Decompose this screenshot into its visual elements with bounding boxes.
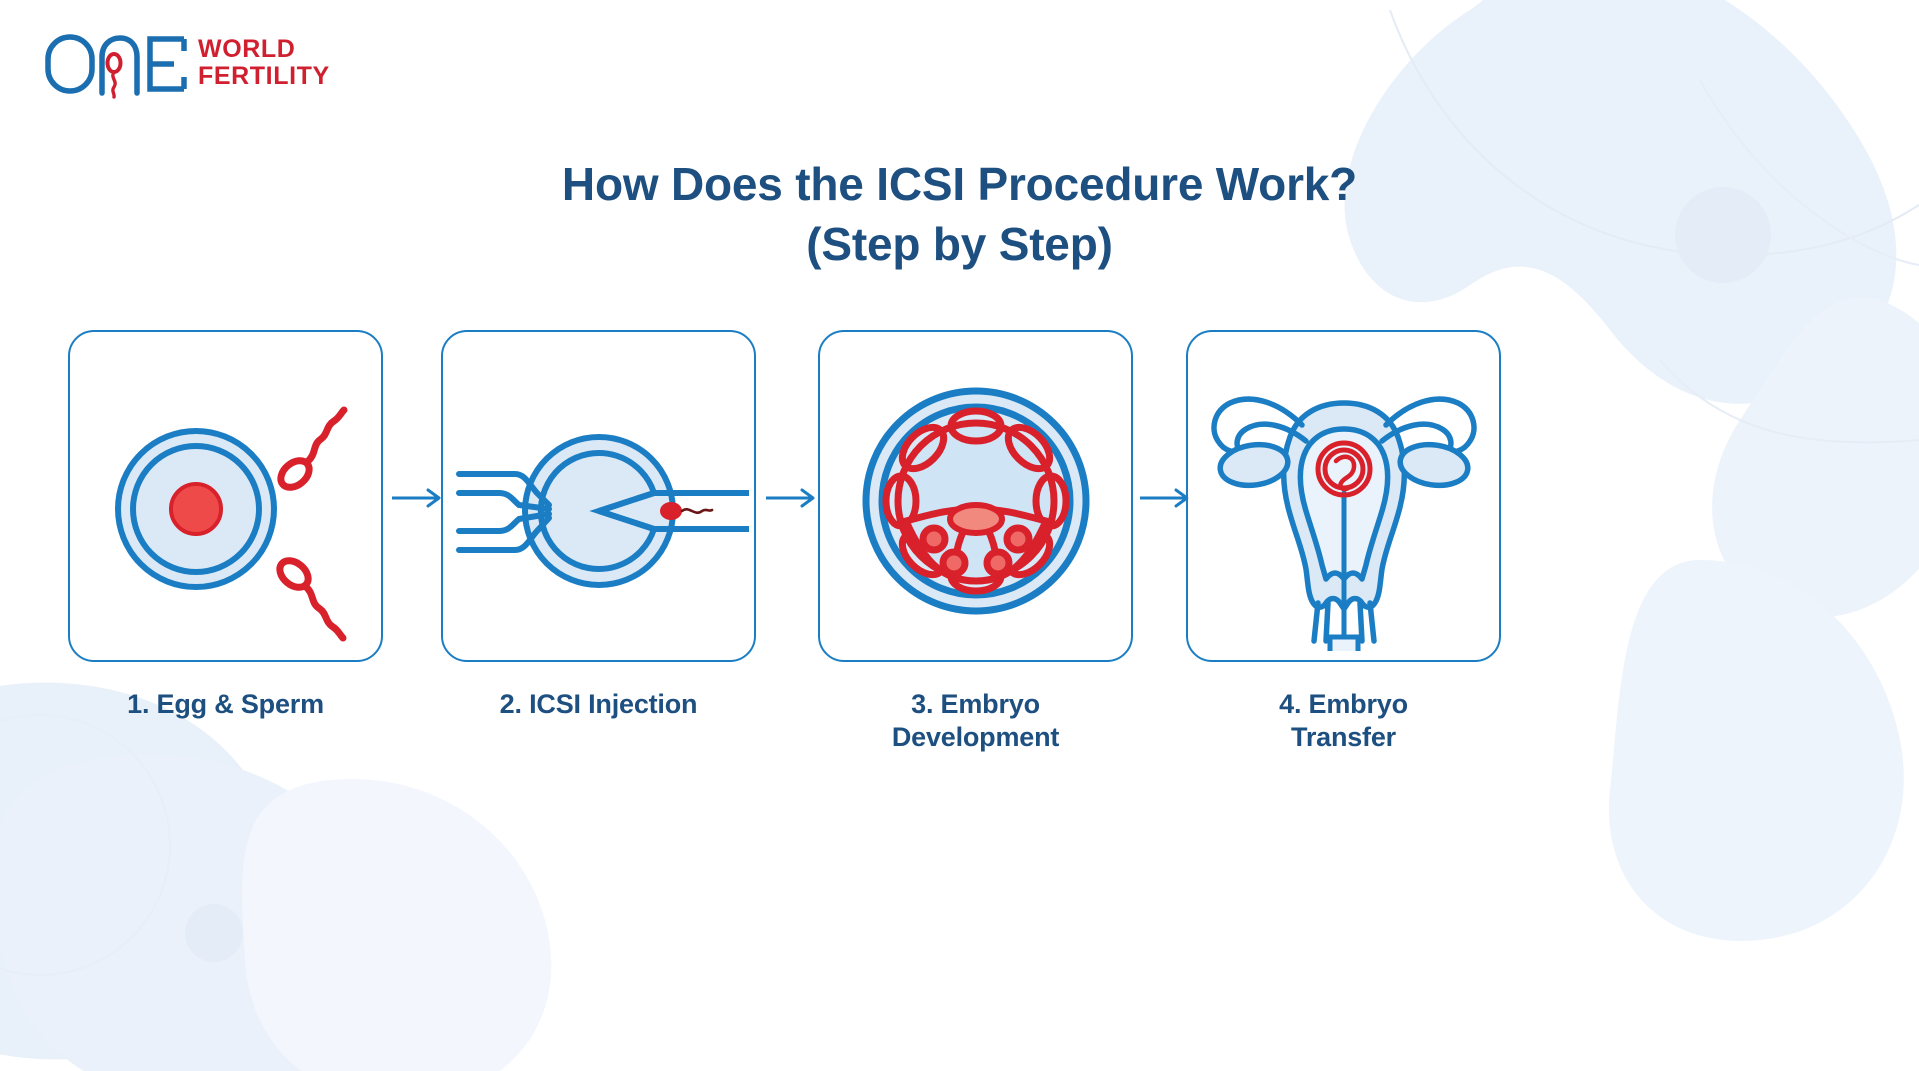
step-4-label-line-1: 4. Embryo	[1279, 689, 1408, 719]
brand-logo[interactable]: WORLD FERTILITY	[44, 27, 314, 99]
steps-row: 1. Egg & Sperm	[0, 330, 1919, 800]
step-4: 4. Embryo Transfer	[1186, 330, 1501, 754]
step-3-label-line-2: Development	[892, 722, 1059, 752]
embryo-transfer-illustration	[1194, 341, 1494, 651]
step-1-card[interactable]	[68, 330, 383, 662]
one-wordmark-icon	[44, 27, 194, 99]
brand-logo-text: WORLD FERTILITY	[198, 37, 330, 89]
step-arrow-1	[392, 485, 448, 511]
infographic-canvas: WORLD FERTILITY How Does the ICSI Proced…	[0, 0, 1919, 1071]
step-3: 3. Embryo Development	[818, 330, 1133, 754]
step-2-card[interactable]	[441, 330, 756, 662]
step-2: 2. ICSI Injection	[441, 330, 756, 721]
sperm-lower	[274, 555, 342, 638]
sperm-accent-icon	[108, 54, 121, 97]
step-1-label: 1. Egg & Sperm	[68, 688, 383, 721]
step-3-label-line-1: 3. Embryo	[911, 689, 1040, 719]
sperm-in-needle	[660, 502, 712, 520]
step-arrow-2	[766, 485, 822, 511]
icsi-injection-illustration	[449, 341, 749, 651]
title-line-1: How Does the ICSI Procedure Work?	[0, 155, 1919, 215]
step-3-label: 3. Embryo Development	[818, 688, 1133, 754]
sperm-upper	[275, 410, 343, 493]
egg-nucleus	[171, 484, 221, 534]
egg-and-sperm-illustration	[76, 341, 376, 651]
step-3-card[interactable]	[818, 330, 1133, 662]
step-4-label: 4. Embryo Transfer	[1186, 688, 1501, 754]
step-4-label-line-2: Transfer	[1291, 722, 1396, 752]
brand-line-world: WORLD	[198, 37, 330, 62]
title-line-2: (Step by Step)	[0, 215, 1919, 275]
step-1: 1. Egg & Sperm	[68, 330, 383, 721]
embryo-development-illustration	[826, 341, 1126, 651]
step-2-label: 2. ICSI Injection	[441, 688, 756, 721]
page-title: How Does the ICSI Procedure Work? (Step …	[0, 155, 1919, 275]
step-4-card[interactable]	[1186, 330, 1501, 662]
brand-line-fertility: FERTILITY	[198, 64, 330, 89]
